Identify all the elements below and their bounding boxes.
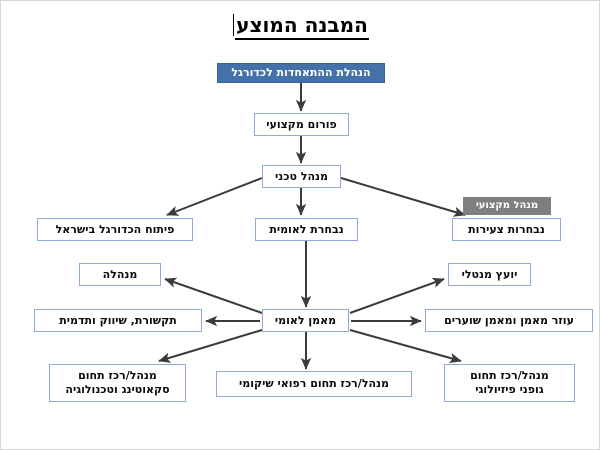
node-label-physical-physiological: מנהל/רכז תחום גופני פיזיולוגי xyxy=(470,369,549,397)
connector-national-coach-to-mental-advisor xyxy=(350,279,444,313)
node-assistant-goalkeeper-coach[interactable]: עוזר מאמן ומאמן שוערים xyxy=(425,309,593,332)
node-label-board: הנהלת ההתאחדות לכדורגל xyxy=(231,66,370,80)
node-label-mental-advisor: יועץ מנטלי xyxy=(462,268,518,282)
node-label-assistant-goalkeeper-coach: עוזר מאמן ומאמן שוערים xyxy=(444,314,574,328)
connector-technical-director-to-youth-teams xyxy=(341,178,465,215)
node-mental-advisor[interactable]: יועץ מנטלי xyxy=(448,263,531,286)
connector-technical-director-to-football-development xyxy=(167,178,262,215)
node-administration[interactable]: מנהלה xyxy=(79,263,161,286)
node-label-professional-director: מנהל מקצועי xyxy=(476,200,538,213)
node-forum[interactable]: פורום מקצועי xyxy=(254,113,349,136)
connector-national-coach-to-physical-physiological xyxy=(350,330,461,361)
node-label-communications-marketing: תקשורת, שיווק ותדמית xyxy=(59,314,176,328)
page-title: המבנה המוצע xyxy=(1,13,600,40)
node-board[interactable]: הנהלת ההתאחדות לכדורגל xyxy=(217,63,385,83)
node-label-national-coach: מאמן לאומי xyxy=(275,314,336,328)
node-technical-director[interactable]: מנהל טכני xyxy=(262,165,341,188)
node-youth-teams[interactable]: נבחרות צעירות xyxy=(452,218,561,241)
node-physical-physiological[interactable]: מנהל/רכז תחום גופני פיזיולוגי xyxy=(444,364,575,402)
page-title-text: המבנה המוצע xyxy=(235,13,369,40)
node-football-development[interactable]: פיתוח הכדורגל בישראל xyxy=(37,218,193,241)
node-label-national-team: נבחרת לאומית xyxy=(269,223,343,237)
connector-national-coach-to-scouting-technology xyxy=(159,330,262,361)
node-label-scouting-technology: מנהל/רכז תחום סקאוטינג וטכנולוגיה xyxy=(65,369,169,397)
node-medical-rehab[interactable]: מנהל/רכז תחום רפואי שיקומי xyxy=(216,371,412,397)
text-caret xyxy=(233,14,234,36)
node-label-forum: פורום מקצועי xyxy=(266,118,336,132)
node-label-technical-director: מנהל טכני xyxy=(275,170,328,184)
connector-national-coach-to-administration xyxy=(165,279,262,313)
node-national-coach[interactable]: מאמן לאומי xyxy=(262,309,349,332)
node-label-administration: מנהלה xyxy=(103,268,138,282)
node-scouting-technology[interactable]: מנהל/רכז תחום סקאוטינג וטכנולוגיה xyxy=(49,364,186,402)
node-communications-marketing[interactable]: תקשורת, שיווק ותדמית xyxy=(34,309,202,332)
node-label-football-development: פיתוח הכדורגל בישראל xyxy=(56,223,175,237)
node-national-team[interactable]: נבחרת לאומית xyxy=(255,218,358,241)
diagram-canvas: המבנה המוצע xyxy=(0,0,600,450)
node-label-youth-teams: נבחרות צעירות xyxy=(468,223,545,237)
node-professional-director[interactable]: מנהל מקצועי xyxy=(463,197,551,215)
node-label-medical-rehab: מנהל/רכז תחום רפואי שיקומי xyxy=(239,377,389,391)
